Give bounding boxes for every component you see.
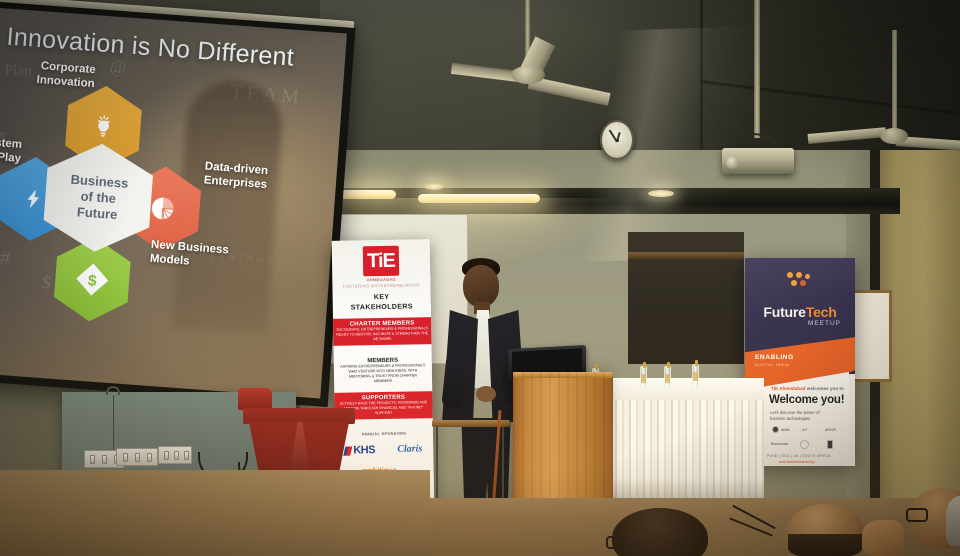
- pie-chart-icon: [148, 194, 178, 224]
- switch-toggle[interactable]: [90, 455, 95, 464]
- ceiling-fan-right: [880, 30, 960, 150]
- ft-brand-part1: Future: [763, 304, 805, 320]
- bottle-label: [665, 374, 670, 383]
- audience-right-hair: [946, 496, 960, 546]
- dollar-sign-icon: $: [74, 261, 110, 297]
- ft-kicker-rest: welcomes you to: [805, 386, 843, 391]
- ft-cell-label: AI/ML: [781, 428, 790, 432]
- tie-section-charter-members: CHARTER MEMBERS SUCCESSFUL ENTREPRENEURS…: [332, 317, 435, 345]
- logo-dot: [787, 272, 793, 278]
- tie-section-members: MEMBERS ASPIRING ENTREPRENEURS & PROFESS…: [334, 357, 432, 384]
- switch-toggle[interactable]: [123, 453, 128, 462]
- switch-plate: [158, 446, 192, 464]
- tie-logo-tagline: FOSTERING ENTREPRENEURSHIP: [332, 282, 430, 289]
- ft-meetup-label: MEETUP: [808, 320, 841, 327]
- ceiling-spot-light-2: [424, 183, 444, 190]
- section-body: SUCCESSFUL ENTREPRENEURS & PROFESSIONALS…: [334, 326, 430, 342]
- label-ecosystem-play: ystem Play: [0, 134, 22, 166]
- tie-logo: TiE: [363, 246, 400, 277]
- fan-rod: [892, 30, 897, 130]
- wall-clock: [600, 120, 634, 160]
- logo-dot: [791, 280, 797, 286]
- water-bottle: [692, 364, 699, 388]
- projector-mount-pole: [754, 0, 760, 138]
- presentation-slide: ss Plan ear isks? @ TEAM # ADVANTAGE $ s…: [0, 7, 347, 398]
- fan-hub: [880, 128, 908, 144]
- ft-cell-icon: [772, 426, 779, 433]
- panel-hanging-wire: [113, 395, 114, 453]
- panel-hook: [106, 386, 120, 395]
- ceiling-fan-left: [505, 0, 705, 120]
- floor-foreground: [0, 470, 430, 556]
- conference-hall-photo: ss Plan ear isks? @ TEAM # ADVANTAGE $ s…: [0, 0, 960, 556]
- switch-toggle[interactable]: [174, 451, 179, 460]
- svg-text:$: $: [87, 272, 97, 290]
- ft-lede-text: Let's discover the power of futuristic t…: [770, 410, 836, 423]
- switch-plate: [116, 448, 158, 466]
- red-table-top: [243, 408, 355, 424]
- switch-toggle[interactable]: [184, 451, 189, 460]
- lightbulb-icon: [90, 114, 118, 142]
- lightning-bolt-icon: [21, 185, 45, 213]
- speaker-head: [463, 265, 499, 307]
- ft-kicker-brand: TiE Ahmedabad: [771, 386, 805, 391]
- logo-dot: [805, 274, 810, 279]
- switch-toggle[interactable]: [102, 455, 107, 464]
- ft-brand-part2: Tech: [806, 304, 837, 320]
- eyeglasses-icon: [606, 536, 624, 549]
- fan-hub: [511, 66, 545, 84]
- logo-dot: [796, 272, 802, 278]
- ft-logo-mark: [787, 272, 813, 288]
- projection-screen: ss Plan ear isks? @ TEAM # ADVANTAGE $ s…: [0, 1, 355, 407]
- speaker-hands: [476, 386, 496, 402]
- slide-hex-diagram: $ Business of the Future: [0, 84, 238, 311]
- audience-hair-fringe: [788, 534, 862, 556]
- ft-headline: Welcome you!: [769, 394, 844, 406]
- water-bottle: [664, 366, 671, 390]
- ceiling-spot-light: [648, 190, 674, 197]
- tie-heading-line1: KEY: [333, 293, 431, 302]
- ft-footer-locations: PUNE | GOA | UK | SOUTH AFRICA: [767, 454, 831, 458]
- projector-lens-icon: [726, 156, 739, 169]
- ft-brand-name: FutureTech: [745, 304, 855, 320]
- hex-center-business-of-the-future: Business of the Future: [41, 140, 155, 255]
- clock-center-pin: [616, 139, 619, 142]
- ft-cell-icon: [827, 440, 833, 449]
- hex-center-line3: Future: [68, 204, 127, 224]
- ft-cell-label: IoT: [802, 428, 807, 432]
- water-bottle: [640, 366, 647, 390]
- ft-cell-label: AR/VR: [825, 428, 836, 432]
- switch-toggle[interactable]: [135, 453, 140, 462]
- logo-dot: [800, 280, 806, 286]
- audience-hand: [862, 520, 904, 556]
- switch-toggle[interactable]: [147, 453, 152, 462]
- ft-website-url: www.tieahmedabad.org: [779, 460, 814, 464]
- sponsor-logo-claris: Claris: [397, 443, 422, 454]
- bottle-label: [693, 372, 698, 381]
- ft-kicker: TiE Ahmedabad welcomes you to: [771, 386, 844, 391]
- label-line: Play: [0, 148, 21, 166]
- tie-heading-line2: STAKEHOLDERS: [333, 303, 431, 312]
- label-line: ystem: [0, 134, 22, 152]
- switch-toggle[interactable]: [164, 451, 169, 460]
- sponsor-logo-khs: KHS: [353, 444, 375, 456]
- red-cloth-pile: [238, 388, 272, 410]
- door-rail: [628, 252, 744, 259]
- eyeglasses-icon-right: [906, 508, 928, 522]
- label-corporate-innovation: Corporate Innovation: [20, 58, 96, 91]
- section-body: ASPIRING ENTREPRENEURS & PROFESSIONALS W…: [340, 363, 426, 384]
- ft-cell-icon: [800, 440, 809, 449]
- ft-enabling-sublabel: DIGITAL INDIA: [755, 363, 790, 367]
- ft-cell-label: Blockchain: [771, 442, 788, 446]
- ft-enabling-label: ENABLING: [755, 354, 794, 361]
- bottle-label: [641, 374, 646, 383]
